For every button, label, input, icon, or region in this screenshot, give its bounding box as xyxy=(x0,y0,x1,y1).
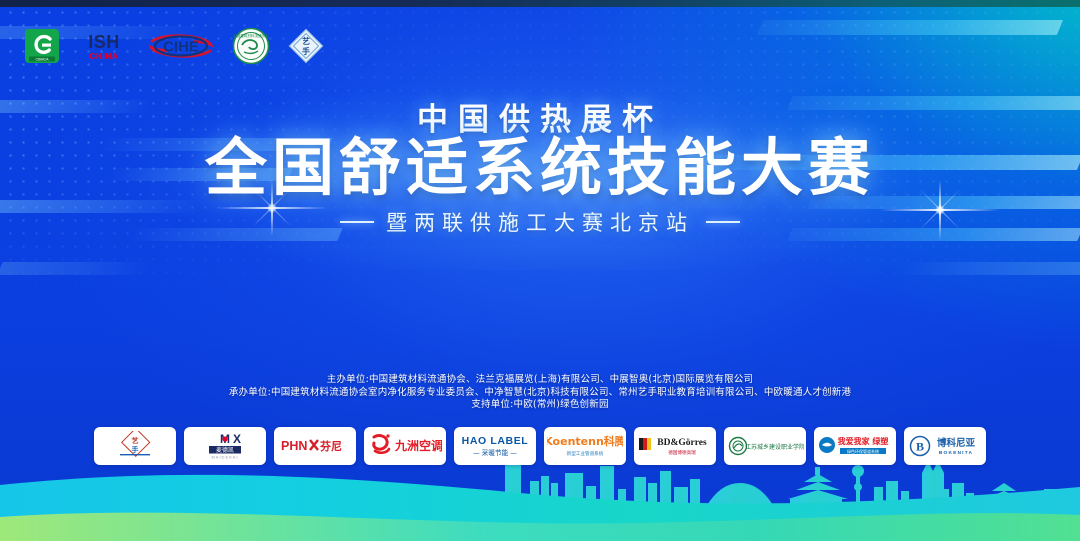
title-subline-text: 暨两联供施工大赛北京站 xyxy=(386,211,694,235)
svg-text:中国建筑材料流通协会: 中国建筑材料流通协会 xyxy=(233,33,269,38)
svg-text:艺: 艺 xyxy=(302,36,310,46)
sponsor-yishou[interactable]: 艺 手 xyxy=(94,427,176,465)
svg-text:博科尼亚: 博科尼亚 xyxy=(937,437,976,449)
svg-text:MAIDEKAI: MAIDEKAI xyxy=(211,455,238,460)
svg-text:江苏城乡建设职业学院: 江苏城乡建设职业学院 xyxy=(745,443,804,451)
cbmca-logo: CBMCA xyxy=(24,27,60,65)
svg-text:新型工业管道系统: 新型工业管道系统 xyxy=(567,450,604,457)
svg-text:BOKENITA: BOKENITA xyxy=(939,450,973,456)
credit-line-supporter: 支持单位:中欧(常州)绿色创新园 xyxy=(0,399,1080,412)
svg-text:Koentenn科腾: Koentenn科腾 xyxy=(547,434,623,448)
green-seal-logo: 中国建筑材料流通协会 xyxy=(232,27,270,65)
sponsor-phnix[interactable]: PHN 芬尼 xyxy=(274,427,356,465)
sponsor-bdgorres[interactable]: BD&Görres 德国博德高瑞 xyxy=(634,427,716,465)
svg-text:手: 手 xyxy=(302,46,310,56)
cihe-logo: CIHE xyxy=(148,27,214,65)
svg-text:我爱我家 绿塑: 我爱我家 绿塑 xyxy=(838,436,889,446)
ish-china-logo: ISH CHINA xyxy=(78,27,130,65)
svg-text:— 采暖节能 —: — 采暖节能 — xyxy=(473,448,517,457)
svg-text:X: X xyxy=(233,432,241,446)
sponsor-koentenn[interactable]: Koentenn科腾 新型工业管道系统 xyxy=(544,427,626,465)
svg-text:CHINA: CHINA xyxy=(89,51,118,61)
sponsor-haolabel[interactable]: HAO LABEL — 采暖节能 — xyxy=(454,427,536,465)
top-logo-row: CBMCA ISH CHINA CIHE 中国建筑材料流通协 xyxy=(24,26,324,66)
sponsor-jiuzhou[interactable]: 九洲空调 xyxy=(364,427,446,465)
credits-block: 主办单位:中国建筑材料流通协会、法兰克福展览(上海)有限公司、中展智奥(北京)国… xyxy=(0,374,1080,412)
page-title: 全国舒适系统技能大赛 xyxy=(0,135,1080,200)
svg-text:ISH: ISH xyxy=(88,32,120,52)
decor-bar-12 xyxy=(0,262,153,275)
svg-text:PHN: PHN xyxy=(281,439,307,453)
sponsor-jiangsu-college[interactable]: 江苏城乡建设职业学院 xyxy=(724,427,806,465)
svg-text:艺: 艺 xyxy=(132,436,139,445)
svg-text:九洲空调: 九洲空调 xyxy=(394,438,442,453)
dash-right xyxy=(706,221,740,223)
diamond-seal-logo: 艺 手 xyxy=(288,27,324,65)
svg-text:HAO LABEL: HAO LABEL xyxy=(462,435,529,447)
svg-text:芬尼: 芬尼 xyxy=(319,439,342,453)
svg-text:CBMCA: CBMCA xyxy=(36,58,50,62)
svg-text:麦德凯: 麦德凯 xyxy=(216,446,234,454)
svg-text:手: 手 xyxy=(132,445,139,454)
sponsor-logo-row: 艺 手 M X 麦德凯 MAIDEKAI PHN 芬尼 xyxy=(0,427,1080,465)
poster-canvas: CBMCA ISH CHINA CIHE 中国建筑材料流通协 xyxy=(0,0,1080,541)
decor-bar-2 xyxy=(757,20,1063,35)
sponsor-maidekai[interactable]: M X 麦德凯 MAIDEKAI xyxy=(184,427,266,465)
svg-text:BD&Görres: BD&Görres xyxy=(657,438,707,448)
svg-text:CIHE: CIHE xyxy=(163,38,199,55)
title-subline: 暨两联供施工大赛北京站 xyxy=(0,207,1080,237)
sponsor-bokenite[interactable]: B 博科尼亚 BOKENITA xyxy=(904,427,986,465)
credit-line-organizer: 主办单位:中国建筑材料流通协会、法兰克福展览(上海)有限公司、中展智奥(北京)国… xyxy=(0,374,1080,387)
sponsor-wolongwei[interactable]: 我爱我家 绿塑 绿色环保管道系统 xyxy=(814,427,896,465)
dash-left xyxy=(340,221,374,223)
svg-text:德国博德高瑞: 德国博德高瑞 xyxy=(668,449,696,456)
svg-text:B: B xyxy=(916,440,924,454)
credit-line-undertaker: 承办单位:中国建筑材料流通协会室内净化服务专业委员会、中净智慧(北京)科技有限公… xyxy=(0,387,1080,400)
top-dark-strip xyxy=(0,0,1080,7)
svg-text:绿色环保管道系统: 绿色环保管道系统 xyxy=(847,448,879,454)
